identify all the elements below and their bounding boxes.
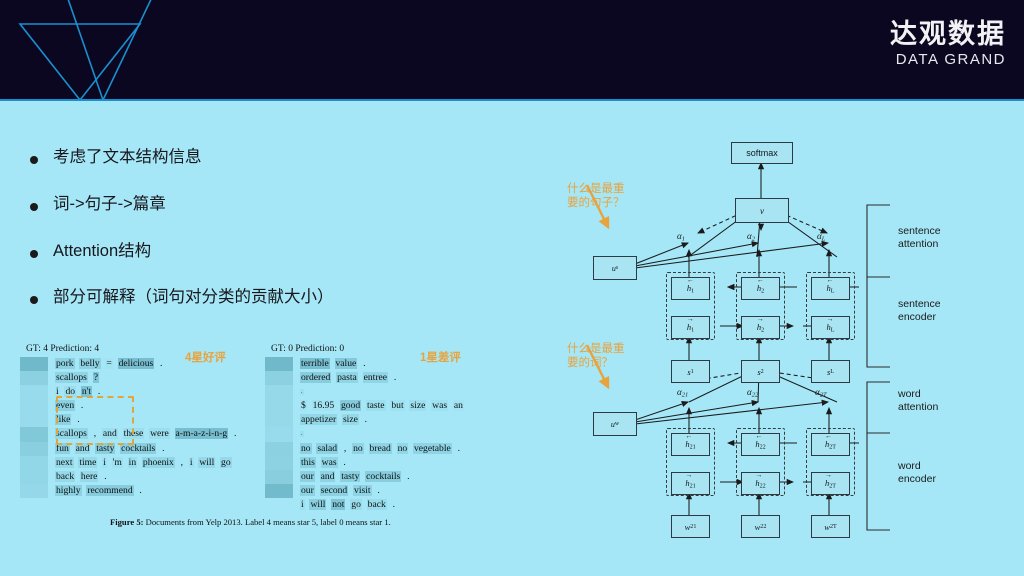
han-architecture-diagram: 什么是最重 要的句子？ 什么是最重 要的词？ softmax v us uw α… [565, 130, 1024, 540]
node-s1: s1 [671, 360, 710, 383]
sentence-attention-bar [265, 427, 293, 441]
bullet-item-3: 部分可解释（词句对分类的贡献大小） [30, 288, 500, 308]
doc-left-header: GT: 4 Prediction: 4 [26, 344, 265, 354]
logo-chinese-name: 达观数据 [890, 20, 1006, 48]
doc-line: scallops ? [55, 371, 265, 385]
doc-token: but [390, 400, 404, 411]
doc-token: an [453, 400, 464, 411]
doc-token: = [105, 358, 112, 369]
doc-token: vegetable [413, 443, 452, 454]
doc-token: cocktails [365, 471, 401, 482]
doc-line: highly recommend . [55, 484, 265, 498]
doc-line: our and tasty cocktails . [300, 470, 515, 484]
doc-right-body: terrible value .ordered pasta entree ..$… [265, 357, 515, 512]
node-h-forward-22: →h22 [741, 472, 780, 495]
doc-token: scallops [55, 428, 88, 439]
node-h-backward-22: ←h22 [741, 433, 780, 456]
doc-line: fun and tasty cocktails . [55, 442, 265, 456]
label-alpha-22: α22 [747, 386, 758, 402]
doc-token: . [392, 499, 396, 510]
bullet-dot-icon [30, 203, 38, 211]
paper-figure-5: GT: 4 Prediction: 4 pork belly = delicio… [20, 344, 520, 534]
doc-token: ? [93, 372, 99, 383]
bullet-dot-icon [30, 156, 38, 164]
doc-token: tasty [95, 443, 115, 454]
figure-caption-label: Figure 5: [110, 517, 144, 527]
doc-token: i [55, 386, 60, 397]
doc-token: recommend [86, 485, 133, 496]
sentence-attention-bar [265, 442, 293, 456]
doc-token: this [300, 457, 316, 468]
doc-token: not [331, 499, 345, 510]
doc-line: next time i 'm in phoenix , i will go [55, 456, 265, 470]
sentence-attention-bar [20, 470, 48, 484]
doc-token: . [376, 485, 380, 496]
node-h-backward-2T: ←h2T [811, 433, 850, 456]
side-label-sentence-attention: sentence attention [898, 225, 941, 251]
node-us-sub: s [616, 265, 618, 271]
doc-token: . [103, 471, 107, 482]
bullet-label: 词->句子->篇章 [53, 195, 166, 215]
doc-token: $ [300, 400, 307, 411]
bullet-label: 部分可解释（词句对分类的贡献大小） [53, 288, 334, 308]
doc-token: size [409, 400, 426, 411]
decorative-triangles [0, 0, 220, 101]
doc-line: back here . [55, 470, 265, 484]
node-h-backward-21: ←h21 [671, 433, 710, 456]
sentence-attention-bar [20, 413, 48, 427]
annotation-sentence-line1: 什么是最重 [567, 182, 625, 196]
doc-token: . [80, 400, 84, 411]
brand-logo: 达观数据 DATA GRAND [890, 20, 1006, 68]
sentence-attention-bar [265, 456, 293, 470]
bullet-label: 考虑了文本结构信息 [53, 148, 202, 168]
badge-negative: 1星差评 [420, 349, 461, 365]
doc-token: no [352, 443, 364, 454]
doc-token: . [364, 414, 368, 425]
doc-token: back [367, 499, 387, 510]
doc-token: go [220, 457, 232, 468]
doc-line: like . [55, 413, 265, 427]
sentence-attention-bar [265, 371, 293, 385]
sentence-attention-bar [265, 470, 293, 484]
doc-token: . [457, 443, 461, 454]
node-h-forward-2T: →h2T [811, 472, 850, 495]
doc-token: was [431, 400, 448, 411]
doc-token: terrible [300, 358, 330, 369]
doc-token: our [300, 471, 315, 482]
doc-token: second [320, 485, 349, 496]
doc-token: salad [316, 443, 338, 454]
doc-token: will [198, 457, 215, 468]
sentence-attention-bar [20, 427, 48, 441]
doc-token: was [321, 457, 338, 468]
doc-token: fun [55, 443, 70, 454]
side-label-sentence-encoder: sentence encoder [898, 298, 941, 324]
doc-line: even . [55, 399, 265, 413]
doc-line: i do n't . [55, 385, 265, 399]
doc-token: like [55, 414, 71, 425]
node-h-forward-L: →hL [811, 316, 850, 339]
doc-token: ordered [300, 372, 331, 383]
doc-line: . [300, 385, 515, 399]
diagram-edges [565, 130, 1024, 540]
doc-token: . [97, 386, 101, 397]
doc-line: terrible value . [300, 357, 515, 371]
figure-caption: Figure 5: Documents from Yelp 2013. Labe… [110, 517, 540, 527]
node-softmax: softmax [731, 142, 793, 164]
doc-token: scallops [55, 372, 88, 383]
doc-token: here [80, 471, 99, 482]
doc-line: no salad , no bread no vegetable . [300, 442, 515, 456]
doc-token: . [161, 443, 165, 454]
node-h-forward-1: →h1 [671, 316, 710, 339]
sentence-attention-bar [265, 413, 293, 427]
doc-token: 'm [112, 457, 123, 468]
node-s2: s2 [741, 360, 780, 383]
header-accent-rule [0, 99, 1024, 101]
doc-left-lines: pork belly = delicious .scallops ?i do n… [48, 357, 265, 498]
bullet-dot-icon [30, 250, 38, 258]
doc-line: $ 16.95 good taste but size was an [300, 399, 515, 413]
doc-token: good [340, 400, 361, 411]
doc-right-header: GT: 0 Prediction: 0 [271, 344, 515, 354]
doc-token: delicious [118, 358, 155, 369]
sentence-attention-bar [265, 357, 293, 371]
doc-token: do [64, 386, 76, 397]
document-example-negative: GT: 0 Prediction: 0 terrible value .orde… [265, 344, 515, 512]
doc-token: value [335, 358, 358, 369]
doc-token: and [320, 471, 336, 482]
doc-line: this was . [300, 456, 515, 470]
doc-token: our [300, 485, 315, 496]
sentence-attention-bar [20, 385, 48, 399]
doc-token: no [397, 443, 409, 454]
doc-token: go [350, 499, 362, 510]
doc-token: . [300, 431, 304, 437]
node-sL: sL [811, 360, 850, 383]
doc-token: , [343, 443, 347, 454]
doc-token: n't [81, 386, 92, 397]
node-h-forward-21: →h21 [671, 472, 710, 495]
sentence-attention-bar [20, 357, 48, 371]
logo-english-name: DATA GRAND [890, 51, 1006, 68]
doc-token: . [159, 358, 163, 369]
sentence-attention-bar [20, 442, 48, 456]
sentence-attention-bar [265, 399, 293, 413]
doc-token: highly [55, 485, 82, 496]
doc-token: a-m-a-z-i-n-g [175, 428, 229, 439]
node-v: v [735, 198, 789, 223]
node-uw-sub: w [615, 421, 619, 427]
doc-token: entree [363, 372, 388, 383]
doc-token: i [189, 457, 194, 468]
doc-left-body: pork belly = delicious .scallops ?i do n… [20, 357, 265, 498]
doc-token: visit [353, 485, 372, 496]
bullet-dot-icon [30, 296, 38, 304]
doc-token: back [55, 471, 75, 482]
sentence-attention-bars [265, 357, 293, 512]
doc-right-lines: terrible value .ordered pasta entree ..$… [293, 357, 515, 512]
bullet-label: Attention结构 [53, 242, 151, 262]
doc-line: . [300, 427, 515, 441]
bullet-item-0: 考虑了文本结构信息 [30, 148, 500, 168]
doc-token: were [149, 428, 170, 439]
bullet-item-1: 词->句子->篇章 [30, 195, 500, 215]
doc-line: i will not go back . [300, 498, 515, 512]
sentence-attention-bar [20, 399, 48, 413]
doc-token: belly [79, 358, 100, 369]
node-v-label: v [760, 206, 764, 216]
node-h-backward-2: ←h2 [741, 277, 780, 300]
figure-caption-text: Documents from Yelp 2013. Label 4 means … [144, 517, 391, 527]
doc-token: in [128, 457, 137, 468]
doc-token: . [76, 414, 80, 425]
doc-token: . [406, 471, 410, 482]
label-alpha-2: α2 [747, 230, 755, 246]
doc-token: tasty [340, 471, 360, 482]
node-w2T: w2T [811, 515, 850, 538]
doc-token: . [300, 389, 304, 395]
doc-token: . [393, 372, 397, 383]
doc-token: and [75, 443, 91, 454]
doc-token: i [300, 499, 305, 510]
doc-token: i [102, 457, 107, 468]
doc-token: and [102, 428, 118, 439]
annotation-sentence-line2: 要的句子？ [567, 196, 625, 210]
doc-token: even [55, 400, 75, 411]
node-us: us [593, 256, 637, 280]
doc-token: taste [366, 400, 386, 411]
node-w21: w21 [671, 515, 710, 538]
side-label-word-encoder: word encoder [898, 460, 936, 486]
label-alpha-2T: α2T [815, 386, 827, 402]
doc-token: , [180, 457, 184, 468]
doc-token: these [123, 428, 145, 439]
node-h-backward-1: ←h1 [671, 277, 710, 300]
doc-token: . [342, 457, 346, 468]
doc-token: pasta [336, 372, 358, 383]
sentence-attention-bars [20, 357, 48, 498]
slide-header: 达观数据 DATA GRAND [0, 0, 1024, 101]
doc-token: 16.95 [312, 400, 336, 411]
node-uw: uw [593, 412, 637, 436]
doc-token: next [55, 457, 74, 468]
doc-token: size [342, 414, 359, 425]
doc-token: . [233, 428, 237, 439]
bullet-item-2: Attention结构 [30, 242, 500, 262]
doc-line: ordered pasta entree . [300, 371, 515, 385]
sentence-attention-bar [20, 371, 48, 385]
sentence-attention-bar [20, 484, 48, 498]
sentence-attention-bar [265, 385, 293, 399]
sentence-attention-bar [20, 456, 48, 470]
document-example-positive: GT: 4 Prediction: 4 pork belly = delicio… [20, 344, 265, 498]
doc-token: appetizer [300, 414, 337, 425]
badge-positive: 4星好评 [185, 349, 226, 365]
label-alpha-1: α1 [677, 230, 685, 246]
annotation-word-question: 什么是最重 要的词？ [567, 342, 625, 370]
side-label-word-attention: word attention [898, 388, 938, 414]
doc-token: cocktails [120, 443, 156, 454]
doc-token: pork [55, 358, 75, 369]
node-w22: w22 [741, 515, 780, 538]
doc-line: scallops , and these were a-m-a-z-i-n-g … [55, 427, 265, 441]
doc-token: . [138, 485, 142, 496]
annotation-sentence-question: 什么是最重 要的句子？ [567, 182, 625, 210]
doc-token: . [362, 358, 366, 369]
label-alpha-21: α21 [677, 386, 688, 402]
doc-token: bread [369, 443, 392, 454]
doc-token: , [93, 428, 97, 439]
doc-token: no [300, 443, 312, 454]
doc-line: pork belly = delicious . [55, 357, 265, 371]
sentence-attention-bar [265, 484, 293, 498]
bullet-list: 考虑了文本结构信息 词->句子->篇章 Attention结构 部分可解释（词句… [30, 148, 500, 335]
node-h-backward-L: ←hL [811, 277, 850, 300]
doc-token: time [78, 457, 97, 468]
label-alpha-L: αL [817, 230, 825, 246]
doc-line: appetizer size . [300, 413, 515, 427]
annotation-word-line2: 要的词？ [567, 356, 625, 370]
doc-token: phoenix [142, 457, 175, 468]
annotation-word-line1: 什么是最重 [567, 342, 625, 356]
doc-token: will [309, 499, 326, 510]
doc-line: our second visit . [300, 484, 515, 498]
node-h-forward-2: →h2 [741, 316, 780, 339]
